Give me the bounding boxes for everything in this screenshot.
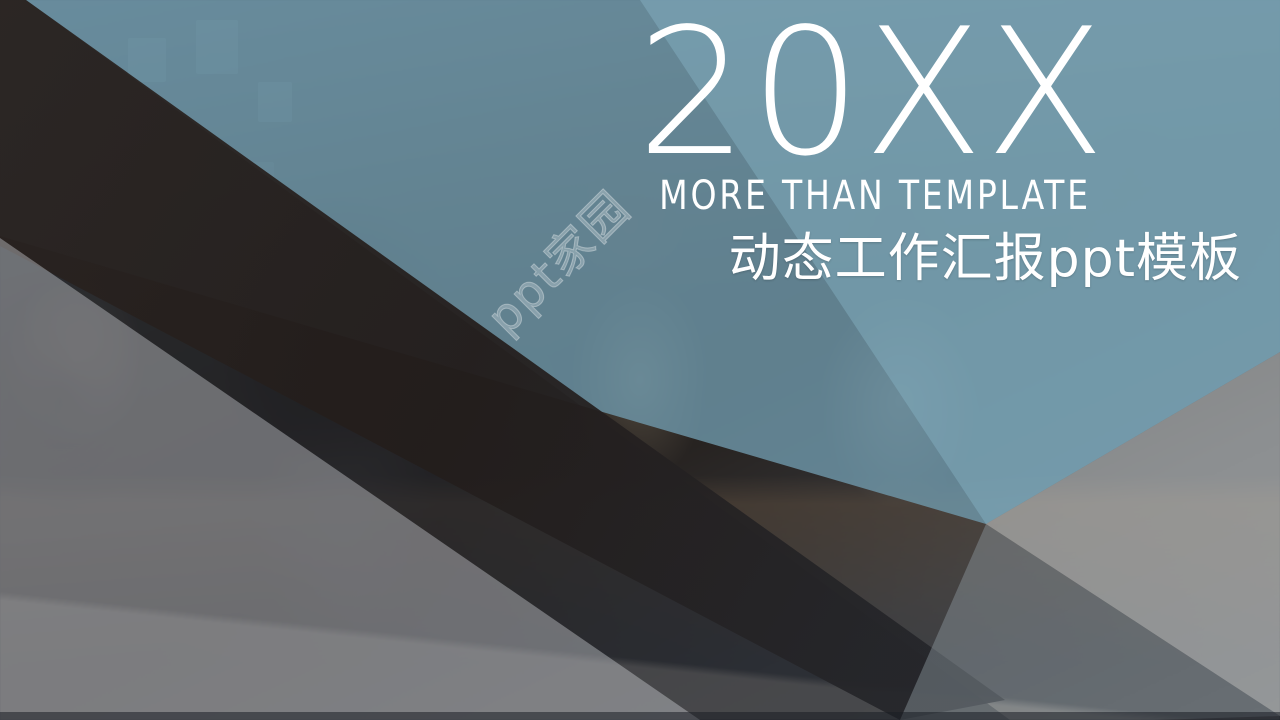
title-text-block: 20XX MORE THAN TEMPLATE 动态工作汇报ppt模板	[516, 8, 1256, 288]
year-heading: 20XX	[516, 8, 1256, 180]
bottom-edge-strip	[0, 712, 1280, 720]
chinese-title: 动态工作汇报ppt模板	[516, 230, 1256, 288]
tagline-text: MORE THAN TEMPLATE	[546, 174, 1227, 218]
title-slide: ppt家园 20XX MORE THAN TEMPLATE 动态工作汇报ppt模…	[0, 0, 1280, 720]
